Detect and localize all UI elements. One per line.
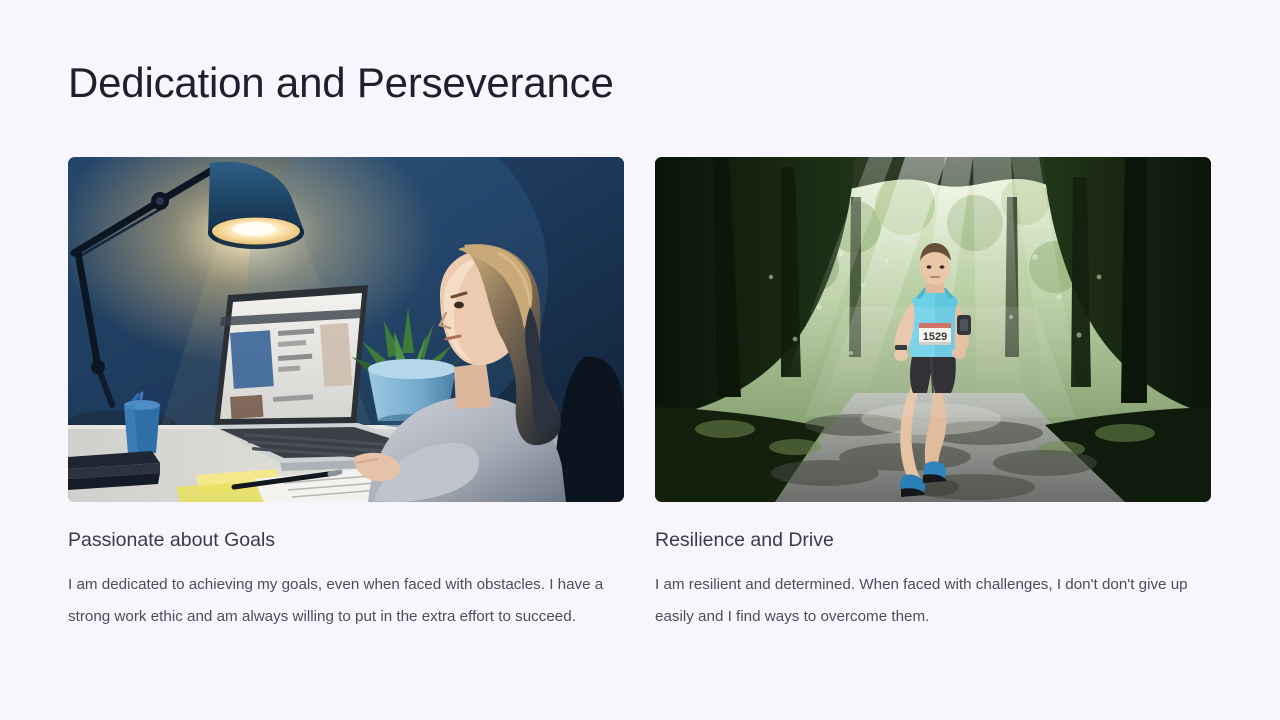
image-runner-on-forest-road: 1529 (655, 157, 1211, 502)
image-woman-working-at-desk (68, 157, 624, 502)
desk-scene-illustration (68, 157, 624, 502)
caption-title-left: Passionate about Goals (68, 528, 624, 552)
forest-runner-illustration: 1529 (655, 157, 1211, 502)
slide: Dedication and Perseverance (0, 0, 1280, 720)
caption-body-right: I am resilient and determined. When face… (655, 569, 1200, 632)
column-right: 1529 (655, 157, 1211, 632)
caption-body-left: I am dedicated to achieving my goals, ev… (68, 569, 624, 632)
column-left: Passionate about Goals I am dedicated to… (68, 157, 624, 632)
page-title: Dedication and Perseverance (68, 58, 614, 108)
caption-title-right: Resilience and Drive (655, 528, 1211, 552)
content-columns: Passionate about Goals I am dedicated to… (68, 157, 1212, 632)
